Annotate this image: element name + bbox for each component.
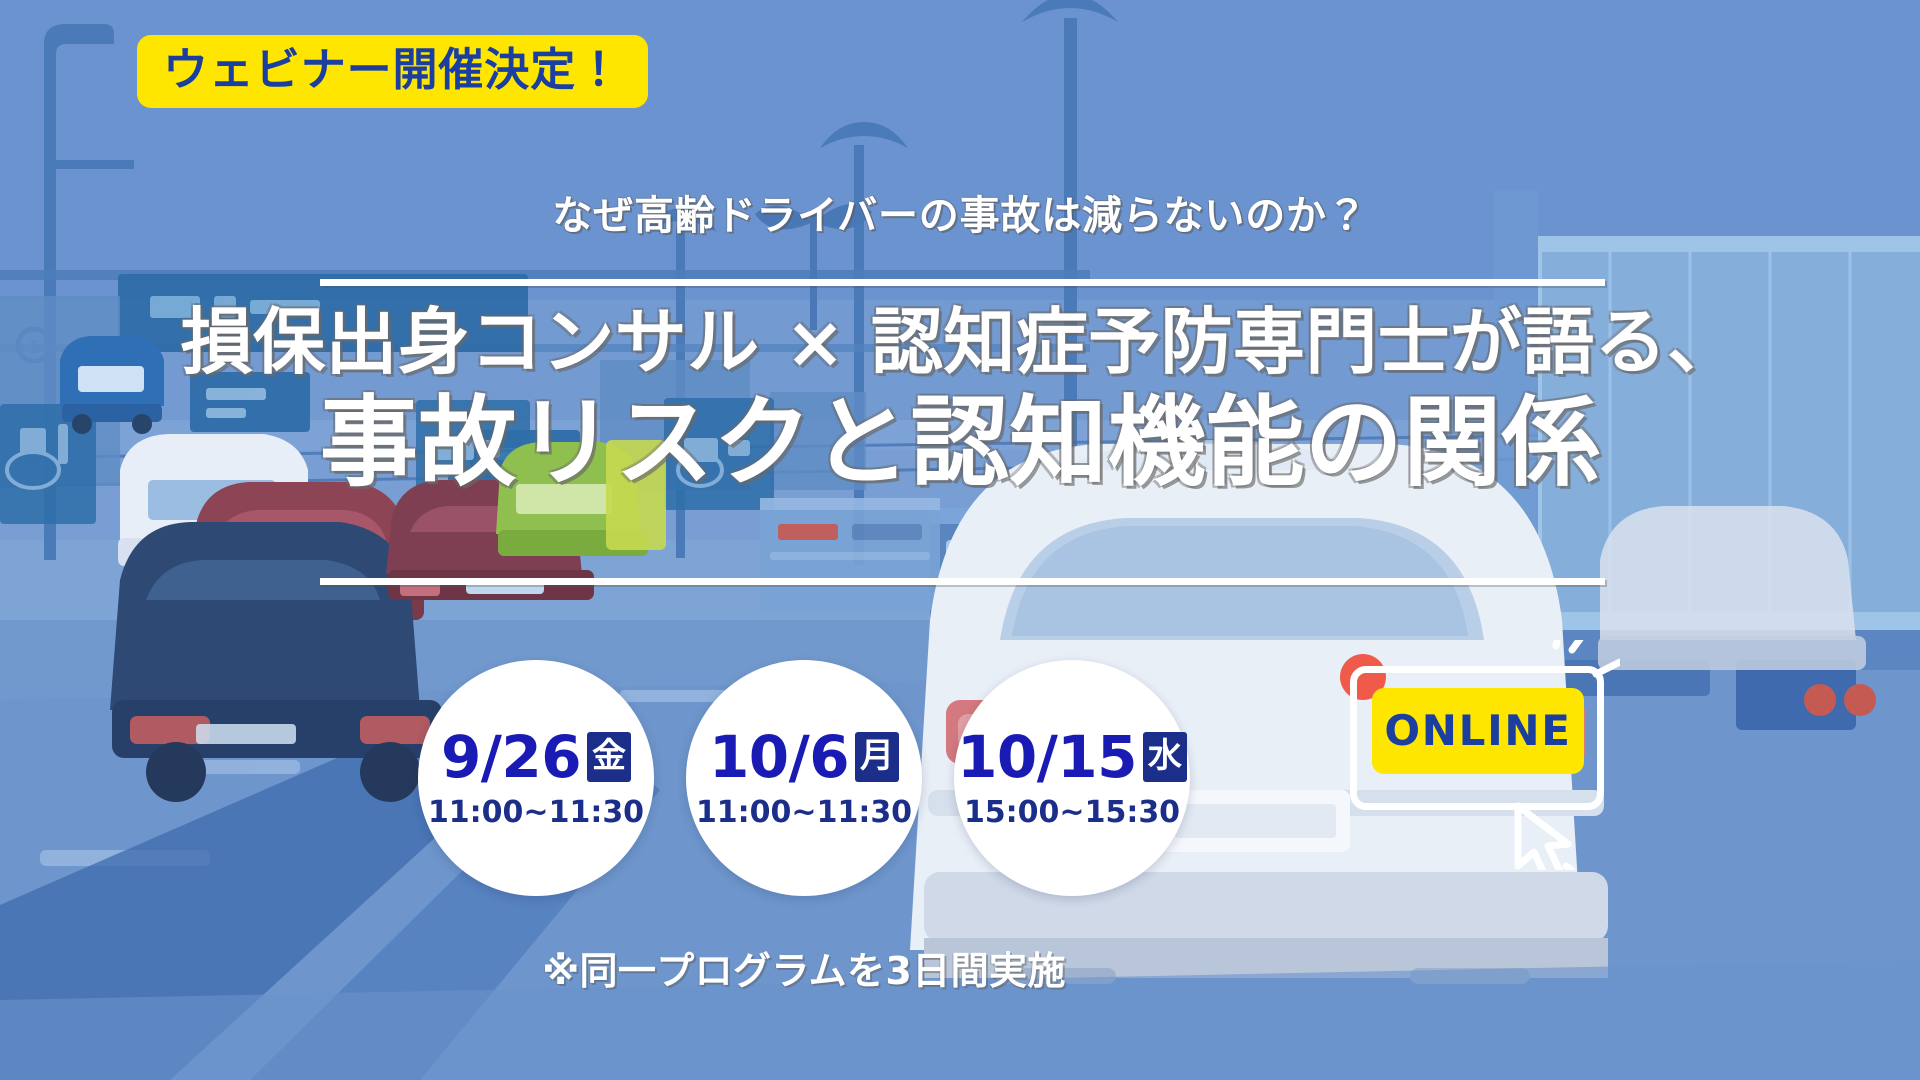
subtitle-question: なぜ高齢ドライバーの事故は減らないのか？: [0, 196, 1920, 236]
badge-label: ウェビナー開催決定！: [137, 35, 648, 108]
session-day-of-week-chip: 金: [587, 732, 631, 782]
session-date-list: 9/26 金 11:00~11:30 10/6 月 11:00~11:30 10…: [418, 660, 1190, 896]
online-chip: ONLINE: [1372, 688, 1584, 774]
divider-top: [320, 279, 1605, 286]
session-day-of-week-chip: 水: [1143, 732, 1187, 782]
session-date-number: 10/15: [957, 728, 1137, 786]
divider-bottom: [320, 578, 1605, 585]
online-badge-group: ONLINE: [1320, 640, 1620, 870]
program-note: ※同一プログラムを3日間実施: [418, 940, 1190, 995]
session-date-line: 10/15 水: [957, 728, 1187, 786]
cursor-pointer-icon: [1518, 806, 1574, 870]
session-time: 11:00~11:30: [428, 798, 644, 828]
webinar-announcement-badge: ウェビナー開催決定！: [137, 35, 648, 108]
session-time: 11:00~11:30: [696, 798, 912, 828]
page-title: 損保出身コンサル × 認知症予防専門士が語る、 事故リスクと認知機能の関係: [0, 306, 1920, 492]
session-date-item[interactable]: 10/15 水 15:00~15:30: [954, 660, 1190, 896]
session-date-number: 9/26: [441, 728, 581, 786]
title-line-1: 損保出身コンサル × 認知症予防専門士が語る、: [0, 306, 1920, 378]
session-date-item[interactable]: 10/6 月 11:00~11:30: [686, 660, 922, 896]
session-date-number: 10/6: [709, 728, 849, 786]
title-line-2: 事故リスクと認知機能の関係: [0, 394, 1920, 492]
session-day-of-week-chip: 月: [855, 732, 899, 782]
session-date-item[interactable]: 9/26 金 11:00~11:30: [418, 660, 654, 896]
webinar-banner: 1: [0, 0, 1920, 1080]
session-date-line: 9/26 金: [441, 728, 631, 786]
online-label: ONLINE: [1384, 710, 1571, 752]
session-time: 15:00~15:30: [964, 798, 1180, 828]
session-date-line: 10/6 月: [709, 728, 899, 786]
